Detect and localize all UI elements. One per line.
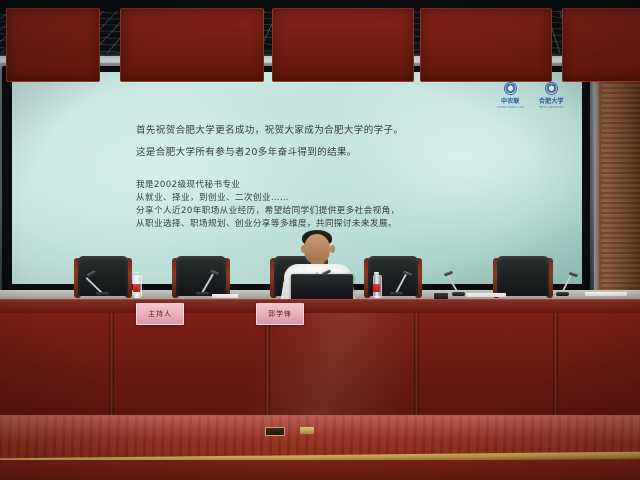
microphone-1[interactable] [96, 268, 109, 296]
laptop[interactable] [291, 274, 353, 301]
conference-hall-photo: 中农联 ZHONG NONG LIAN 合肥大学 HEFEI UNIVERSIT… [0, 0, 640, 480]
nameplate-text: 郭学锋 [268, 309, 292, 319]
desk-paper [466, 293, 506, 297]
table-seam [109, 313, 114, 419]
speaker-ear [301, 245, 306, 253]
bottle-label [133, 284, 140, 292]
mic-base [390, 292, 403, 296]
table-top-surface [0, 299, 640, 314]
logo-sublabel: HEFEI UNIVERSITY [539, 106, 564, 109]
water-bottle-2[interactable] [373, 275, 380, 298]
table-seam [553, 313, 558, 419]
logo-zhongnonglian: 中农联 ZHONG NONG LIAN [497, 82, 524, 109]
water-bottle-1[interactable] [133, 275, 140, 298]
table-front [0, 313, 640, 419]
table-seam [265, 313, 270, 419]
speaker-ear [330, 245, 335, 253]
microphone-6[interactable] [556, 268, 569, 296]
nameplate-moderator[interactable]: 主持人 [136, 303, 184, 325]
bottle-label [373, 284, 380, 292]
slide-logo-group: 中农联 ZHONG NONG LIAN 合肥大学 HEFEI UNIVERSIT… [497, 82, 564, 109]
stage-front-face [0, 460, 640, 480]
microphone-4[interactable] [390, 268, 403, 296]
table-panel-4 [420, 8, 552, 82]
logo-hefei-university: 合肥大学 HEFEI UNIVERSITY [539, 82, 564, 109]
chair-5[interactable] [497, 256, 549, 296]
floor-outlet-cover-icon[interactable] [300, 427, 314, 434]
logo-label: 中农联 [501, 96, 520, 105]
emblem-icon [504, 82, 517, 95]
slide-line-2: 这是合肥大学所有参与者20多年奋斗得到的结果。 [136, 144, 357, 158]
chair-backrest [497, 256, 549, 296]
mic-base [96, 292, 109, 296]
microphone-2[interactable] [196, 268, 209, 296]
mic-base [556, 292, 569, 296]
slide-line-5: 分享个人近20年职场从业经历，希望给同学们提供更多社会视角， [136, 204, 400, 216]
table-panel-5 [562, 8, 640, 82]
desk-paper [585, 292, 627, 296]
slide-line-6: 从职业选择、职场规划、创业分享等多维度，共同探讨未来发展。 [136, 217, 397, 229]
mic-base [196, 292, 209, 296]
nameplate-speaker[interactable]: 郭学锋 [256, 303, 304, 325]
bottle-cap [374, 272, 379, 275]
table-panel-1 [6, 8, 100, 82]
table-seam [414, 313, 419, 419]
emblem-icon [545, 82, 558, 95]
mic-base [452, 292, 465, 296]
right-wood-wall [592, 62, 640, 294]
floor-outlet-icon[interactable] [265, 427, 285, 436]
logo-sublabel: ZHONG NONG LIAN [497, 106, 524, 109]
nameplate-text: 主持人 [148, 309, 172, 319]
table-panel-2 [120, 8, 264, 82]
microphone-5[interactable] [452, 268, 465, 296]
logo-label: 合肥大学 [539, 96, 564, 105]
slide-line-1: 首先祝贺合肥大学更名成功，祝贺大家成为合肥大学的学子。 [136, 122, 403, 136]
slide-line-3: 我是2002级现代秘书专业 [136, 178, 240, 190]
bottle-cap [134, 272, 139, 275]
table-panel-3 [272, 8, 414, 82]
desk-paper [212, 294, 238, 298]
slide-line-4: 从就业、择业，到创业、二次创业…… [136, 191, 289, 203]
